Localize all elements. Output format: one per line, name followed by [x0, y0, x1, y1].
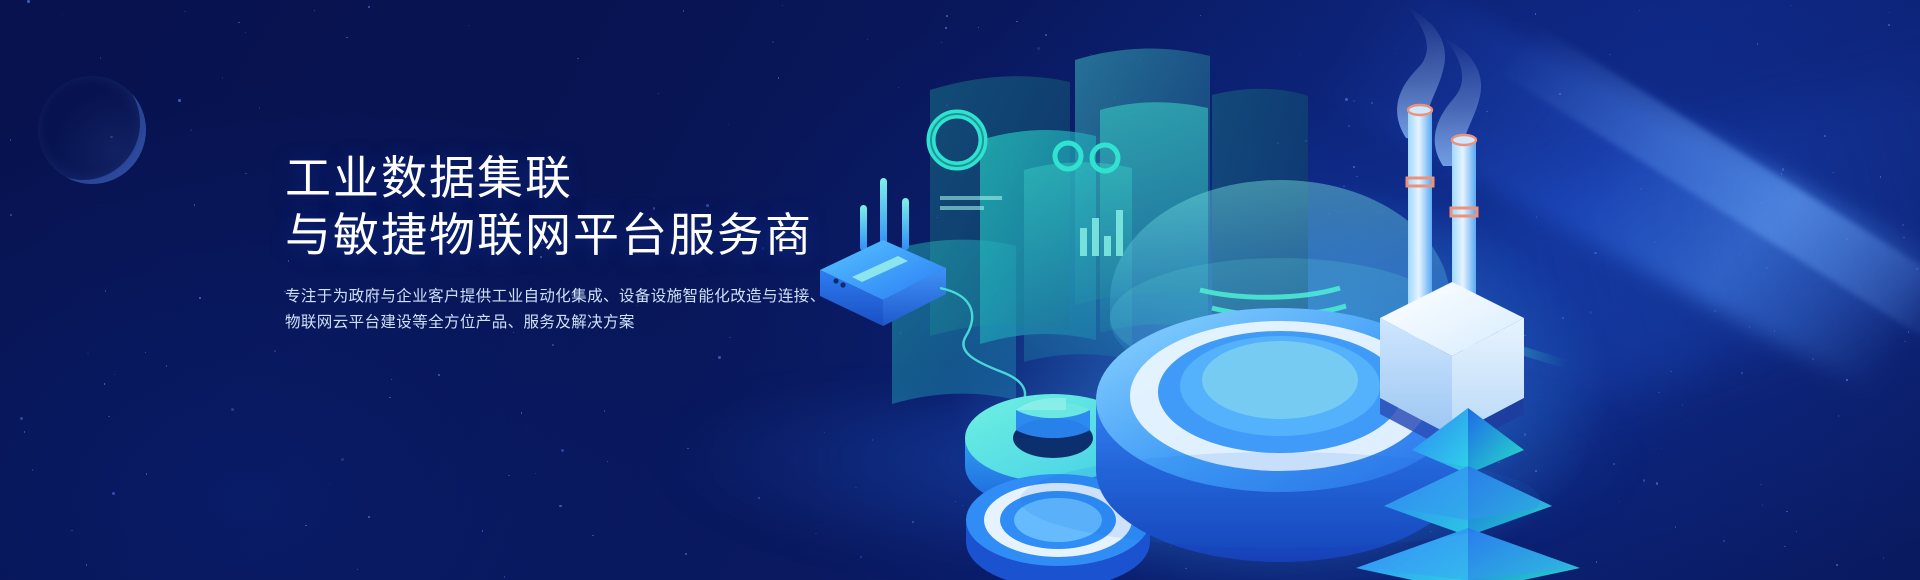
- star: [105, 290, 107, 292]
- star: [389, 397, 391, 399]
- star: [314, 10, 316, 12]
- star: [245, 173, 247, 175]
- star: [190, 129, 192, 131]
- star: [468, 25, 470, 27]
- star: [101, 205, 103, 207]
- ground-reflection: [1020, 452, 1540, 548]
- star: [718, 356, 721, 359]
- star: [104, 383, 106, 385]
- star: [10, 139, 12, 141]
- hero-banner: 工业数据集联 与敏捷物联网平台服务商 专注于为政府与企业客户提供工业自动化集成、…: [0, 0, 1920, 580]
- star: [683, 10, 685, 12]
- star: [772, 41, 774, 43]
- star: [259, 107, 261, 109]
- star: [222, 77, 224, 79]
- star: [199, 297, 201, 299]
- hero-illustration: [780, 0, 1920, 580]
- star: [178, 99, 181, 102]
- crescent-planet-icon: [38, 76, 146, 184]
- star: [114, 374, 116, 376]
- star: [346, 37, 348, 39]
- star: [10, 214, 12, 216]
- star: [184, 11, 186, 13]
- star: [194, 204, 196, 206]
- star: [729, 337, 731, 339]
- star: [658, 93, 660, 95]
- star: [62, 14, 64, 16]
- star: [238, 22, 240, 24]
- star: [728, 124, 730, 126]
- star: [100, 57, 102, 59]
- star: [577, 58, 579, 60]
- star: [145, 352, 147, 354]
- star: [166, 365, 168, 367]
- star: [391, 379, 393, 381]
- star: [27, 0, 30, 3]
- star: [245, 32, 247, 34]
- star: [438, 374, 440, 376]
- star: [87, 353, 89, 355]
- star: [368, 6, 370, 8]
- star: [552, 344, 554, 346]
- star: [274, 350, 276, 352]
